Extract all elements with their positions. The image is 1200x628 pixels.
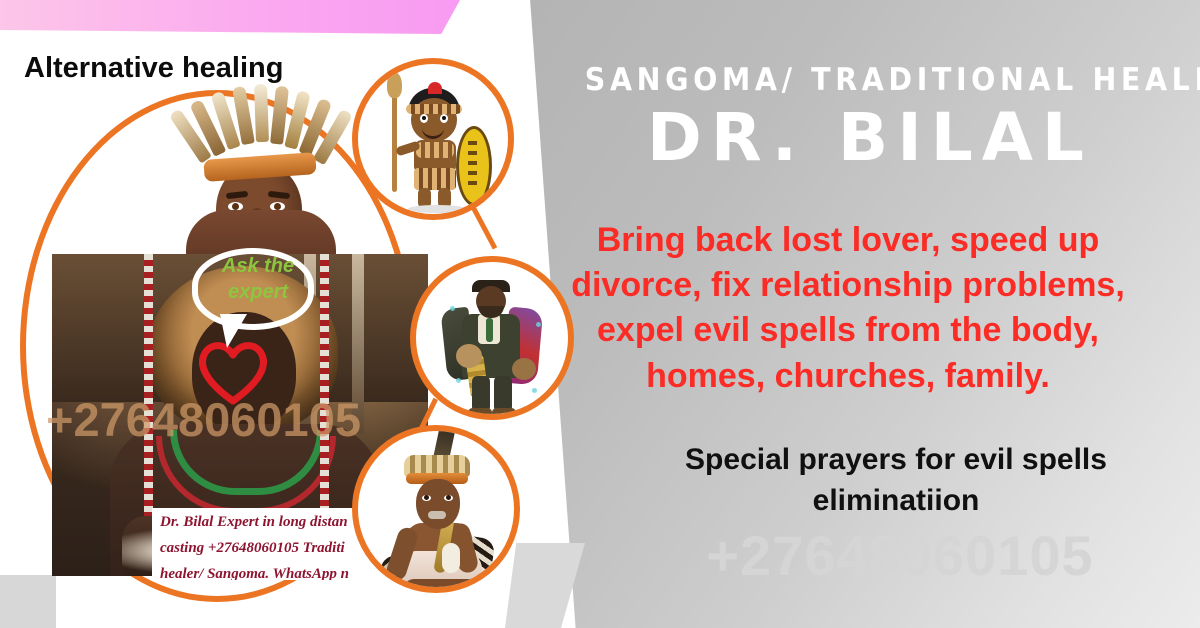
warrior-ground-shadow bbox=[408, 205, 466, 213]
warrior-legs bbox=[404, 579, 478, 593]
healer-leg bbox=[494, 376, 512, 412]
doctor-name-title: DR. BILAL bbox=[560, 103, 1180, 172]
warrior-shield bbox=[456, 126, 492, 206]
services-text: Bring back lost lover, speed up divorce,… bbox=[536, 218, 1160, 399]
warrior-eye bbox=[420, 114, 428, 123]
healer-sandal bbox=[468, 408, 492, 417]
warrior-head bbox=[416, 479, 460, 529]
man-headband bbox=[203, 152, 316, 182]
crouching-warrior-illustration bbox=[358, 431, 514, 587]
warrior-eye bbox=[444, 495, 453, 501]
circle-crouching-warrior bbox=[352, 425, 520, 593]
warrior-eye bbox=[440, 114, 448, 123]
kicker-title: SANGOMA/ TRADITIONAL HEALER bbox=[585, 62, 1155, 98]
headdress-feather bbox=[254, 84, 269, 142]
grey-wedge-shape bbox=[505, 543, 585, 628]
circle-zulu-warrior bbox=[352, 58, 514, 220]
special-prayers-text: Special prayers for evil spells eliminat… bbox=[608, 440, 1184, 521]
warrior-chest-band bbox=[416, 142, 454, 158]
healer-sandal bbox=[492, 408, 516, 417]
warrior-headband bbox=[406, 104, 462, 114]
warrior-mouth bbox=[428, 511, 446, 519]
zulu-warrior-illustration bbox=[358, 64, 508, 214]
grey-strip-bottom-left bbox=[0, 575, 56, 628]
warrior-arm-cuff bbox=[442, 543, 460, 573]
healer-leg bbox=[472, 376, 490, 412]
sparkle-icon bbox=[450, 306, 455, 311]
pink-gradient-bar bbox=[0, 0, 460, 34]
healer-tie bbox=[486, 318, 493, 342]
ask-the-expert-bubble: Ask the expert bbox=[192, 248, 314, 330]
warrior-spear-tip bbox=[387, 72, 402, 98]
sparkle-icon bbox=[456, 378, 461, 383]
warrior-red-tuft bbox=[428, 82, 442, 94]
bubble-text: Ask the expert bbox=[210, 254, 306, 305]
phone-watermark: +27648060105 bbox=[620, 523, 1180, 588]
warrior-eye bbox=[422, 495, 431, 501]
warrior-skirt bbox=[414, 168, 456, 190]
alternative-healing-heading: Alternative healing bbox=[24, 52, 283, 85]
healer-pouch bbox=[512, 358, 536, 380]
poster-canvas: Alternative healing bbox=[0, 0, 1200, 628]
healer-satchel bbox=[456, 344, 482, 368]
